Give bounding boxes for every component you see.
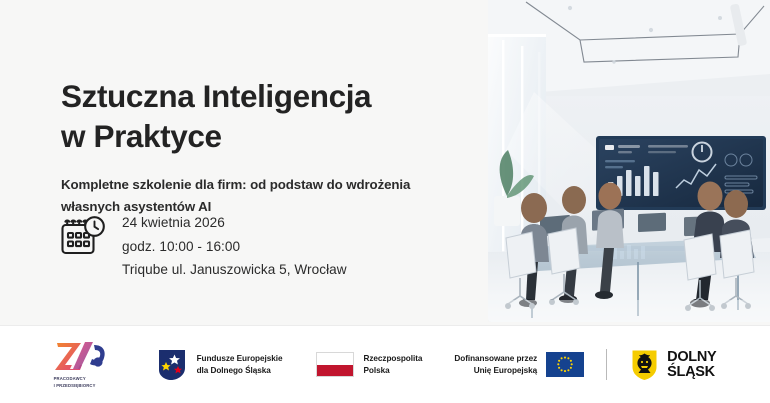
footer-logo-bar: PRACODAWCY I PRZEDSIĘBIORCY Fundusze Eur…: [0, 326, 770, 403]
zig-logo: PRACODAWCY I PRZEDSIĘBIORCY: [54, 340, 106, 389]
event-location: Triqube ul. Januszowicka 5, Wrocław: [122, 260, 347, 281]
eu-flag-icon: [546, 352, 584, 377]
event-time: godz. 10:00 - 16:00: [122, 237, 347, 258]
rzeczpospolita-polska-text: Rzeczpospolita Polska: [363, 353, 422, 376]
unia-europejska-text: Dofinansowane przez Unię Europejską: [454, 353, 537, 376]
event-details: 24 kwietnia 2026 godz. 10:00 - 16:00 Tri…: [58, 210, 347, 281]
copy-block: Sztuczna Inteligencja w Praktyce Komplet…: [61, 76, 481, 219]
dolny-slask-shield-icon: [631, 349, 658, 381]
main-content-area: Sztuczna Inteligencja w Praktyce Komplet…: [0, 0, 770, 326]
event-text-lines: 24 kwietnia 2026 godz. 10:00 - 16:00 Tri…: [122, 210, 347, 281]
event-date: 24 kwietnia 2026: [122, 213, 347, 234]
dolny-slask-logo: DOLNY ŚLĄSK: [631, 349, 716, 381]
fundusze-europejskie-logo: Fundusze Europejskie dla Dolnego Śląska: [156, 348, 283, 382]
poland-flag-icon: [316, 352, 354, 377]
dolny-slask-text: DOLNY ŚLĄSK: [667, 350, 716, 380]
event-banner: Sztuczna Inteligencja w Praktyce Komplet…: [0, 0, 770, 403]
footer-vertical-divider: [606, 349, 607, 380]
zig-logo-caption: PRACODAWCY I PRZEDSIĘBIORCY: [54, 376, 106, 389]
office-meeting-photo: [488, 0, 770, 322]
page-title: Sztuczna Inteligencja w Praktyce: [61, 76, 481, 157]
fundusze-europejskie-text: Fundusze Europejskie dla Dolnego Śląska: [197, 353, 283, 376]
calendar-clock-icon: [58, 214, 106, 262]
rzeczpospolita-polska-logo: Rzeczpospolita Polska: [316, 352, 422, 377]
unia-europejska-logo: Dofinansowane przez Unię Europejską: [454, 352, 584, 377]
